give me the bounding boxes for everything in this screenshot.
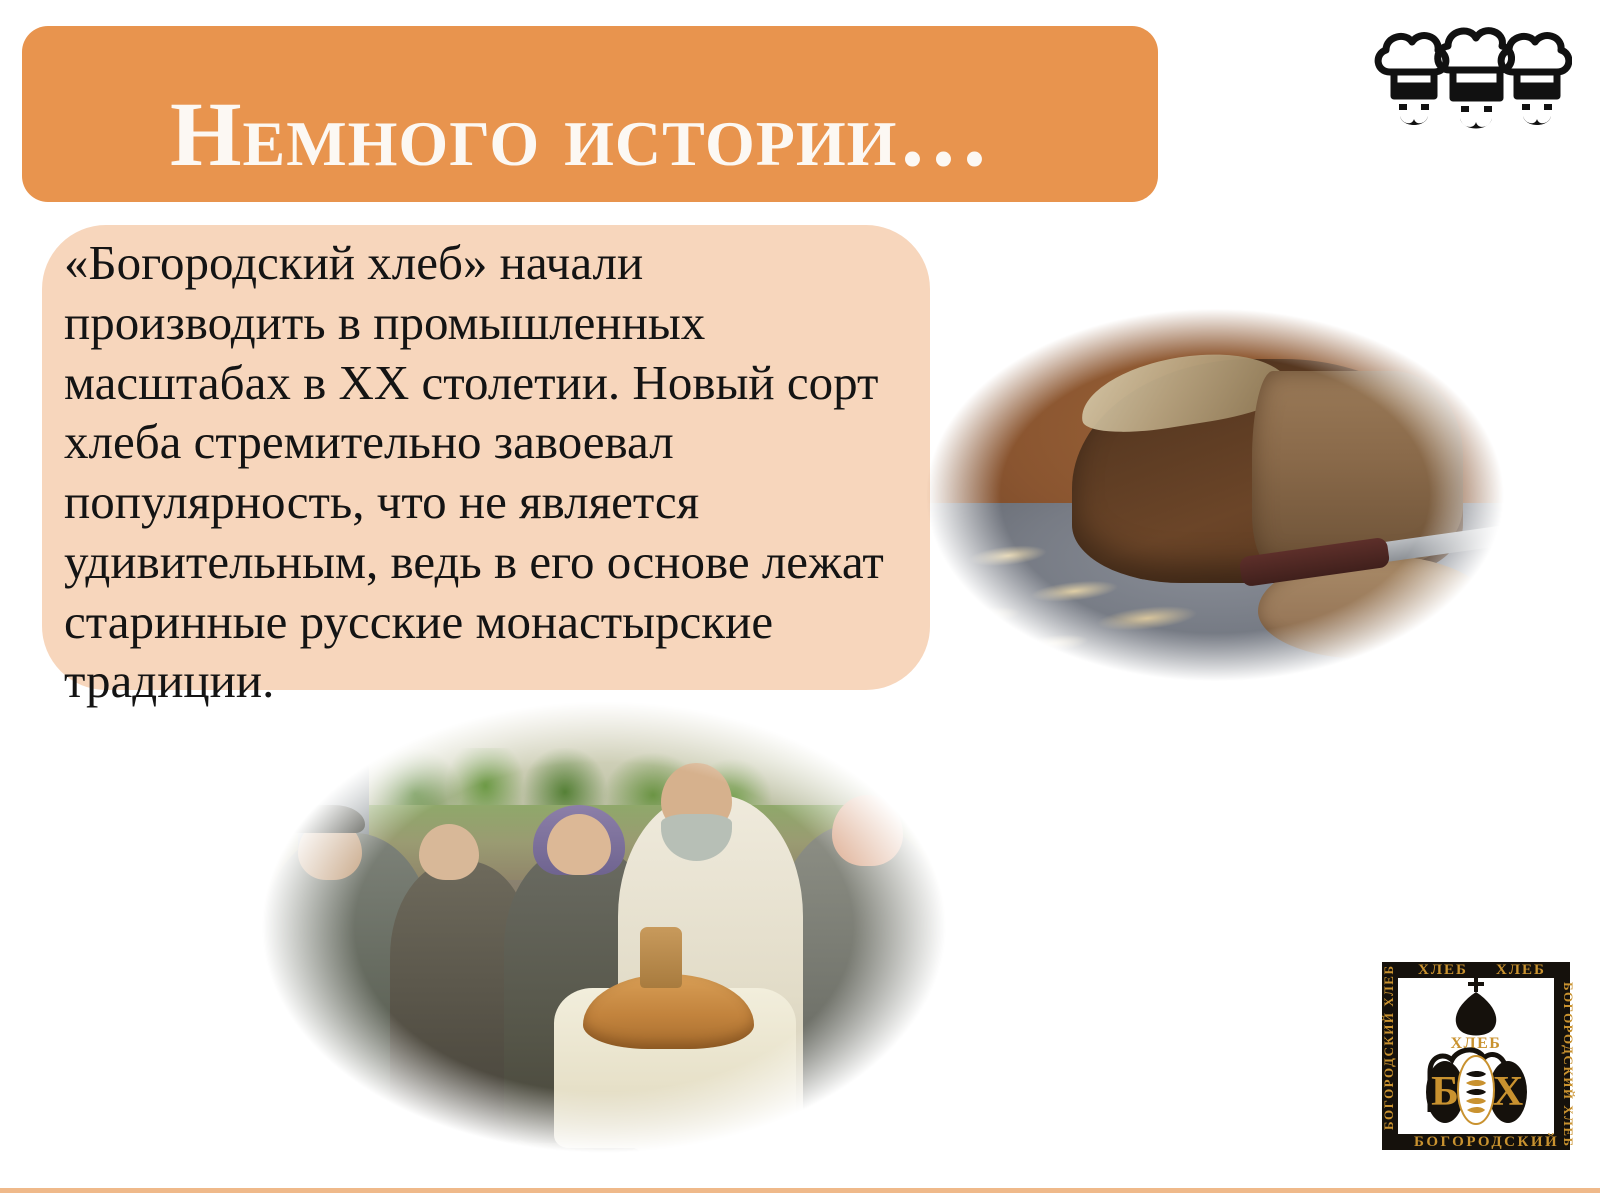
- painting-bread-and-salt: [248, 692, 960, 1162]
- emblem-border-bottom: БОГОРОДСКИЙ: [1414, 1133, 1559, 1150]
- emblem-monogram-right: Х: [1493, 1069, 1523, 1115]
- emblem-border-top-left: ХЛЕБ: [1418, 962, 1468, 978]
- bottom-rule: [0, 1188, 1600, 1193]
- slide: Немного истории…: [0, 0, 1600, 1200]
- page-title: Немного истории…: [170, 86, 1150, 183]
- painting-head-woman: [547, 814, 611, 875]
- bread-photo: [905, 295, 1525, 695]
- three-chef-hats-icon: [1372, 24, 1572, 130]
- bread-cut-face: [1252, 371, 1463, 563]
- emblem-border-top-right: ХЛЕБ: [1496, 962, 1546, 978]
- body-paragraph: «Богородский хлеб» начали производить в …: [64, 233, 909, 711]
- title-bar: Немного истории…: [22, 26, 1158, 202]
- emblem-border-left: БОГОРОДСКИЙ ХЛЕБ: [1381, 964, 1396, 1130]
- emblem-border-right: БОГОРОДСКИЙ ХЛЕБ: [1561, 982, 1576, 1148]
- bogorodsky-khleb-emblem: ХЛЕБ ХЛЕБ БОГОРОДСКИЙ ХЛЕБ БОГОРОДСКИЙ Х…: [1372, 952, 1580, 1160]
- emblem-monogram-left: Б: [1431, 1069, 1459, 1115]
- painting-salt-cellar: [640, 927, 683, 988]
- body-text-card: «Богородский хлеб» начали производить в …: [42, 225, 930, 690]
- painting-head-right: [832, 795, 903, 866]
- painting-cap: [287, 805, 365, 833]
